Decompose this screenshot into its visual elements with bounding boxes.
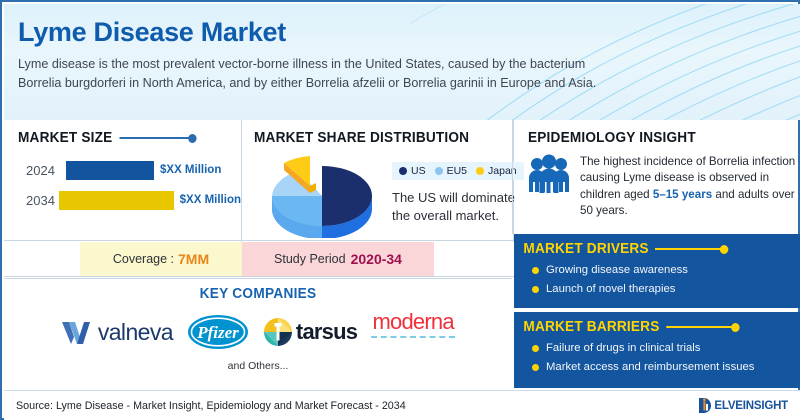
- coverage-label: Coverage :: [113, 252, 174, 266]
- valneva-wordmark: valneva: [98, 319, 173, 346]
- delveinsight-mark-icon: [698, 397, 713, 414]
- tarsus-wordmark: tarsus: [296, 319, 357, 345]
- driver-item-label: Launch of novel therapies: [546, 282, 675, 296]
- svg-text:Pfizer: Pfizer: [196, 323, 239, 342]
- study-period-label: Study Period: [274, 252, 346, 266]
- market-drivers-heading: MARKET DRIVERS: [514, 234, 783, 257]
- bar-row-2034: 2034 $XX Million: [26, 190, 241, 210]
- logo-pfizer: Pfizer: [187, 311, 249, 353]
- market-size-heading: MARKET SIZE: [18, 130, 228, 146]
- header-banner: Lyme Disease Market Lyme disease is the …: [4, 4, 800, 120]
- people-group-icon: [528, 154, 570, 194]
- bullet-dot-icon: [532, 286, 539, 293]
- epidemiology-heading-label: EPIDEMIOLOGY INSIGHT: [528, 130, 696, 146]
- pfizer-logo-icon: Pfizer: [187, 313, 249, 351]
- list-item: Failure of drugs in clinical trials: [532, 341, 800, 355]
- valneva-mark-icon: [61, 319, 97, 345]
- infographic-frame: Lyme Disease Market Lyme disease is the …: [0, 0, 800, 420]
- bullet-dot-icon: [532, 345, 539, 352]
- band-bottom-rule: [4, 276, 514, 277]
- bar-row-2024: 2024 $XX Million: [26, 160, 241, 180]
- market-size-card: MARKET SIZE 2024 $XX Million 2034 $XX Mi: [4, 120, 242, 242]
- market-share-heading: MARKET SHARE DISTRIBUTION: [254, 130, 497, 146]
- header-subtitle: Lyme disease is the most prevalent vecto…: [18, 55, 626, 94]
- driver-item-label: Growing disease awareness: [546, 263, 688, 277]
- legend-dot-eu5: [435, 167, 443, 175]
- market-size-heading-label: MARKET SIZE: [18, 130, 112, 146]
- bar-value-2034: $XX Million: [180, 194, 241, 206]
- market-share-pie-chart: [258, 152, 388, 238]
- market-barriers-heading-label: MARKET BARRIERS: [523, 319, 659, 335]
- epidemiology-highlight: 5–15 years: [653, 188, 712, 201]
- bar-2024: [66, 161, 154, 180]
- market-barriers-heading: MARKET BARRIERS: [514, 312, 783, 335]
- market-share-card: MARKET SHARE DISTRIBUTION: [242, 120, 514, 242]
- legend-dot-us: [399, 167, 407, 175]
- key-companies-heading: KEY COMPANIES: [19, 278, 497, 302]
- list-item: Market access and reimbursement issues: [532, 360, 800, 374]
- legend-dot-japan: [476, 167, 484, 175]
- delveinsight-wordmark: ELVEINSIGHT: [714, 400, 788, 412]
- coverage-value: 7MM: [178, 251, 209, 267]
- bullet-dot-icon: [532, 267, 539, 274]
- key-companies-top-rule: [4, 278, 512, 279]
- epidemiology-heading: EPIDEMIOLOGY INSIGHT: [528, 130, 784, 146]
- barrier-item-label: Market access and reimbursement issues: [546, 360, 754, 374]
- market-size-bar-chart: 2024 $XX Million 2034 $XX Million: [18, 160, 241, 210]
- drivers-rule-icon: [655, 245, 728, 254]
- market-share-note: The US will dominate the overall market.: [392, 189, 524, 224]
- bar-year-label: 2034: [26, 193, 59, 208]
- market-drivers-panel: MARKET DRIVERS Growing disease awareness…: [514, 234, 800, 308]
- market-barriers-panel: MARKET BARRIERS Failure of drugs in clin…: [514, 312, 800, 388]
- company-logo-row: valneva Pfizer: [4, 310, 512, 354]
- source-text: Source: Lyme Disease - Market Insight, E…: [16, 400, 406, 412]
- band-top-rule: [4, 240, 514, 241]
- footer-bar: Source: Lyme Disease - Market Insight, E…: [4, 390, 800, 420]
- market-share-heading-label: MARKET SHARE DISTRIBUTION: [254, 130, 469, 146]
- study-period-value: 2020-34: [351, 251, 402, 267]
- coverage-badge: Coverage : 7MM: [80, 242, 242, 276]
- legend-label-eu5: EU5: [447, 165, 467, 177]
- barriers-rule-icon: [666, 323, 739, 332]
- logo-valneva: valneva: [61, 311, 173, 353]
- legend-item-japan: Japan: [476, 165, 517, 177]
- delveinsight-logo: ELVEINSIGHT: [698, 397, 788, 414]
- pie-legend: US EU5 Japan: [392, 162, 524, 180]
- legend-item-us: US: [399, 165, 426, 177]
- key-companies-card: KEY COMPANIES valneva Pfizer: [4, 278, 512, 388]
- logo-tarsus: tarsus: [263, 311, 357, 353]
- epidemiology-card: EPIDEMIOLOGY INSIGHT The highest inciden…: [514, 120, 800, 234]
- market-drivers-heading-label: MARKET DRIVERS: [523, 241, 648, 257]
- epidemiology-text: The highest incidence of Borrelia infect…: [580, 154, 800, 220]
- market-barriers-list: Failure of drugs in clinical trials Mark…: [514, 335, 800, 374]
- market-drivers-list: Growing disease awareness Launch of nove…: [514, 257, 800, 296]
- legend-item-eu5: EU5: [435, 165, 467, 177]
- list-item: Launch of novel therapies: [532, 282, 800, 296]
- bar-year-label: 2024: [26, 163, 66, 178]
- study-period-badge: Study Period 2020-34: [242, 242, 434, 276]
- legend-label-us: US: [411, 165, 426, 177]
- list-item: Growing disease awareness: [532, 263, 800, 277]
- bar-2034: [59, 191, 174, 210]
- vertical-divider: [512, 120, 513, 234]
- barrier-item-label: Failure of drugs in clinical trials: [546, 341, 700, 355]
- pie-chart-svg: [258, 152, 388, 238]
- tarsus-mark-icon: [263, 317, 293, 347]
- moderna-underline: [371, 336, 455, 338]
- page-title: Lyme Disease Market: [18, 18, 800, 48]
- bullet-dot-icon: [532, 364, 539, 371]
- and-others-label: and Others...: [4, 360, 512, 372]
- logo-moderna: moderna: [371, 311, 455, 353]
- bar-value-2024: $XX Million: [160, 164, 221, 176]
- moderna-wordmark: moderna: [373, 311, 454, 333]
- heading-rule-icon: [120, 134, 197, 143]
- coverage-study-band: Coverage : 7MM Study Period 2020-34: [4, 242, 514, 276]
